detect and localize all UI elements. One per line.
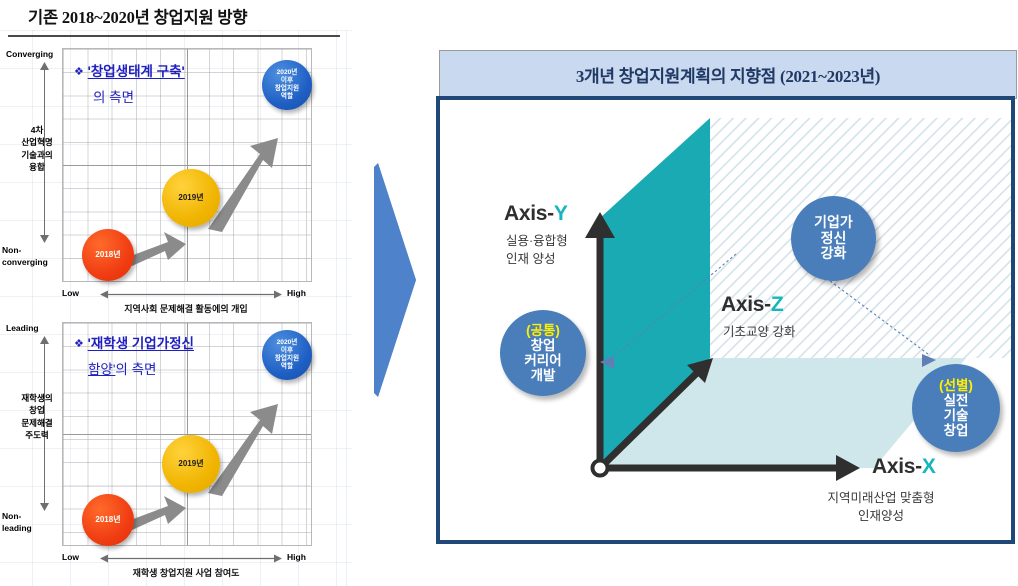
- bubble-label: 2020년 이후 창업지원 역할: [275, 69, 299, 100]
- title-divider: [8, 35, 340, 37]
- chart-subheading: 의 측면: [115, 362, 156, 377]
- transition-chevron-icon: [372, 155, 420, 405]
- right-panel-header: 3개년 창업지원계획의 지향점 (2021~2023년): [439, 50, 1017, 99]
- axis-x-letter: X: [922, 455, 936, 478]
- chart-bubble-2020: 2020년 이후 창업지원 역할: [262, 330, 312, 380]
- axis-z-letter: Z: [771, 293, 784, 316]
- x-axis-caption-text: 재학생 창업지원 사업 참여도: [62, 566, 310, 579]
- y-axis-bottom-label: Non- converging: [2, 244, 64, 269]
- chart-bubble-2020: 2020년 이후 창업지원 역할: [262, 60, 312, 110]
- axis-x-name: Axis-: [872, 455, 922, 478]
- chart-heading-text: '창업생태계 구축': [88, 64, 185, 79]
- chart-heading-text-2: 함양': [88, 362, 115, 377]
- x-axis-caption: 재학생 창업지원 사업 참여도: [62, 566, 310, 579]
- y-axis-up-arrow: [39, 336, 50, 345]
- bubble-label: 2019년: [178, 459, 203, 468]
- page-title: 기존 2018~2020년 창업지원 방향: [28, 4, 348, 32]
- axis-y-letter: Y: [554, 202, 568, 225]
- origin-point: [593, 461, 608, 476]
- x-axis-caption: 지역사회 문제해결 활동에의 개입: [62, 302, 310, 315]
- x-axis-low-label: Low: [62, 288, 79, 298]
- x-axis-high-label: High: [287, 288, 306, 298]
- y-axis-up-arrow: [39, 62, 50, 71]
- callout-line: 커리어: [524, 353, 561, 368]
- chart-heading-text: '재학생 기업가정신: [88, 336, 194, 351]
- callout-line: 정신: [821, 231, 847, 247]
- y-axis-down-arrow: [39, 234, 50, 243]
- chart-bubble-2019: 2019년: [162, 435, 220, 493]
- callout-line: 창업: [944, 423, 969, 438]
- callout-tag: (공통): [526, 323, 560, 338]
- chart-ecosystem: Converging 4차 산업혁명 기술과의 융합 Non- convergi…: [0, 44, 352, 302]
- axis-z-name: Axis-: [721, 293, 771, 316]
- bubble-label: 2018년: [95, 515, 120, 524]
- chart-bubble-2018: 2018년: [82, 494, 134, 546]
- callout-line: 기업가: [814, 215, 853, 231]
- axis-z-description: 기초교양 강화: [723, 323, 873, 341]
- callout-line: 실전: [944, 393, 969, 408]
- growth-arrow-1: [128, 494, 190, 534]
- bubble-label: 2020년 이후 창업지원 역할: [275, 339, 299, 370]
- diamond-bullet-icon: ❖: [74, 338, 84, 350]
- y-axis-top-label: Converging: [6, 49, 53, 59]
- axis-z-label: Axis-Z: [721, 293, 783, 317]
- axis-y-name: Axis-: [504, 202, 554, 225]
- chart-subheading: 의 측면: [93, 88, 134, 109]
- callout-bubble-entrepreneurship: 기업가 정신 강화: [791, 196, 876, 281]
- left-panel: 기존 2018~2020년 창업지원 방향 Converging 4차 산업혁명…: [0, 0, 352, 586]
- chart-entrepreneurship: Leading 재학생의 창업 문제해결 주도력 Non- leading ❖ …: [0, 318, 352, 586]
- bubble-label: 2018년: [95, 250, 120, 259]
- callout-line: 개발: [531, 368, 556, 383]
- chart-bubble-2019: 2019년: [162, 169, 220, 227]
- y-axis-top-label: Leading: [6, 323, 39, 333]
- bubble-label: 2019년: [178, 193, 203, 202]
- callout-bubble-common-startup-career: (공통) 창업 커리어 개발: [500, 310, 586, 396]
- x-axis-double-arrow: [100, 553, 282, 564]
- diamond-bullet-icon: ❖: [74, 66, 84, 78]
- y-axis-label: 4차 산업혁명 기술과의 융합: [8, 124, 66, 173]
- callout-line: 기술: [944, 408, 969, 423]
- axis-y-description: 실용·융합형 인재 양성: [506, 232, 616, 268]
- chart-heading: ❖ '재학생 기업가정신: [74, 334, 194, 355]
- y-axis-bottom-label: Non- leading: [2, 510, 64, 535]
- callout-tag: (선별): [939, 378, 973, 393]
- callout-line: 강화: [821, 246, 847, 262]
- chart-heading: ❖ '창업생태계 구축': [74, 62, 185, 83]
- growth-arrow-1: [128, 230, 190, 270]
- x-axis-high-label: High: [287, 552, 306, 562]
- callout-bubble-selected-tech-startup: (선별) 실전 기술 창업: [912, 364, 1000, 452]
- axis-y-label: Axis-Y: [504, 202, 568, 226]
- axis-x-label: Axis-X: [872, 455, 936, 479]
- y-axis-label: 재학생의 창업 문제해결 주도력: [8, 392, 66, 441]
- chart-subheading-line2: 함양'의 측면: [88, 360, 156, 381]
- x-axis-low-label: Low: [62, 552, 79, 562]
- right-panel-title: 3개년 창업지원계획의 지향점 (2021~2023년): [576, 62, 880, 87]
- chart-bubble-2018: 2018년: [82, 229, 134, 281]
- callout-line: 창업: [531, 338, 556, 353]
- x-axis-caption-text: 지역사회 문제해결 활동에의 개입: [62, 302, 310, 315]
- x-axis-double-arrow: [100, 289, 282, 300]
- axis-x-description: 지역미래산업 맞춤형 인재양성: [766, 489, 996, 525]
